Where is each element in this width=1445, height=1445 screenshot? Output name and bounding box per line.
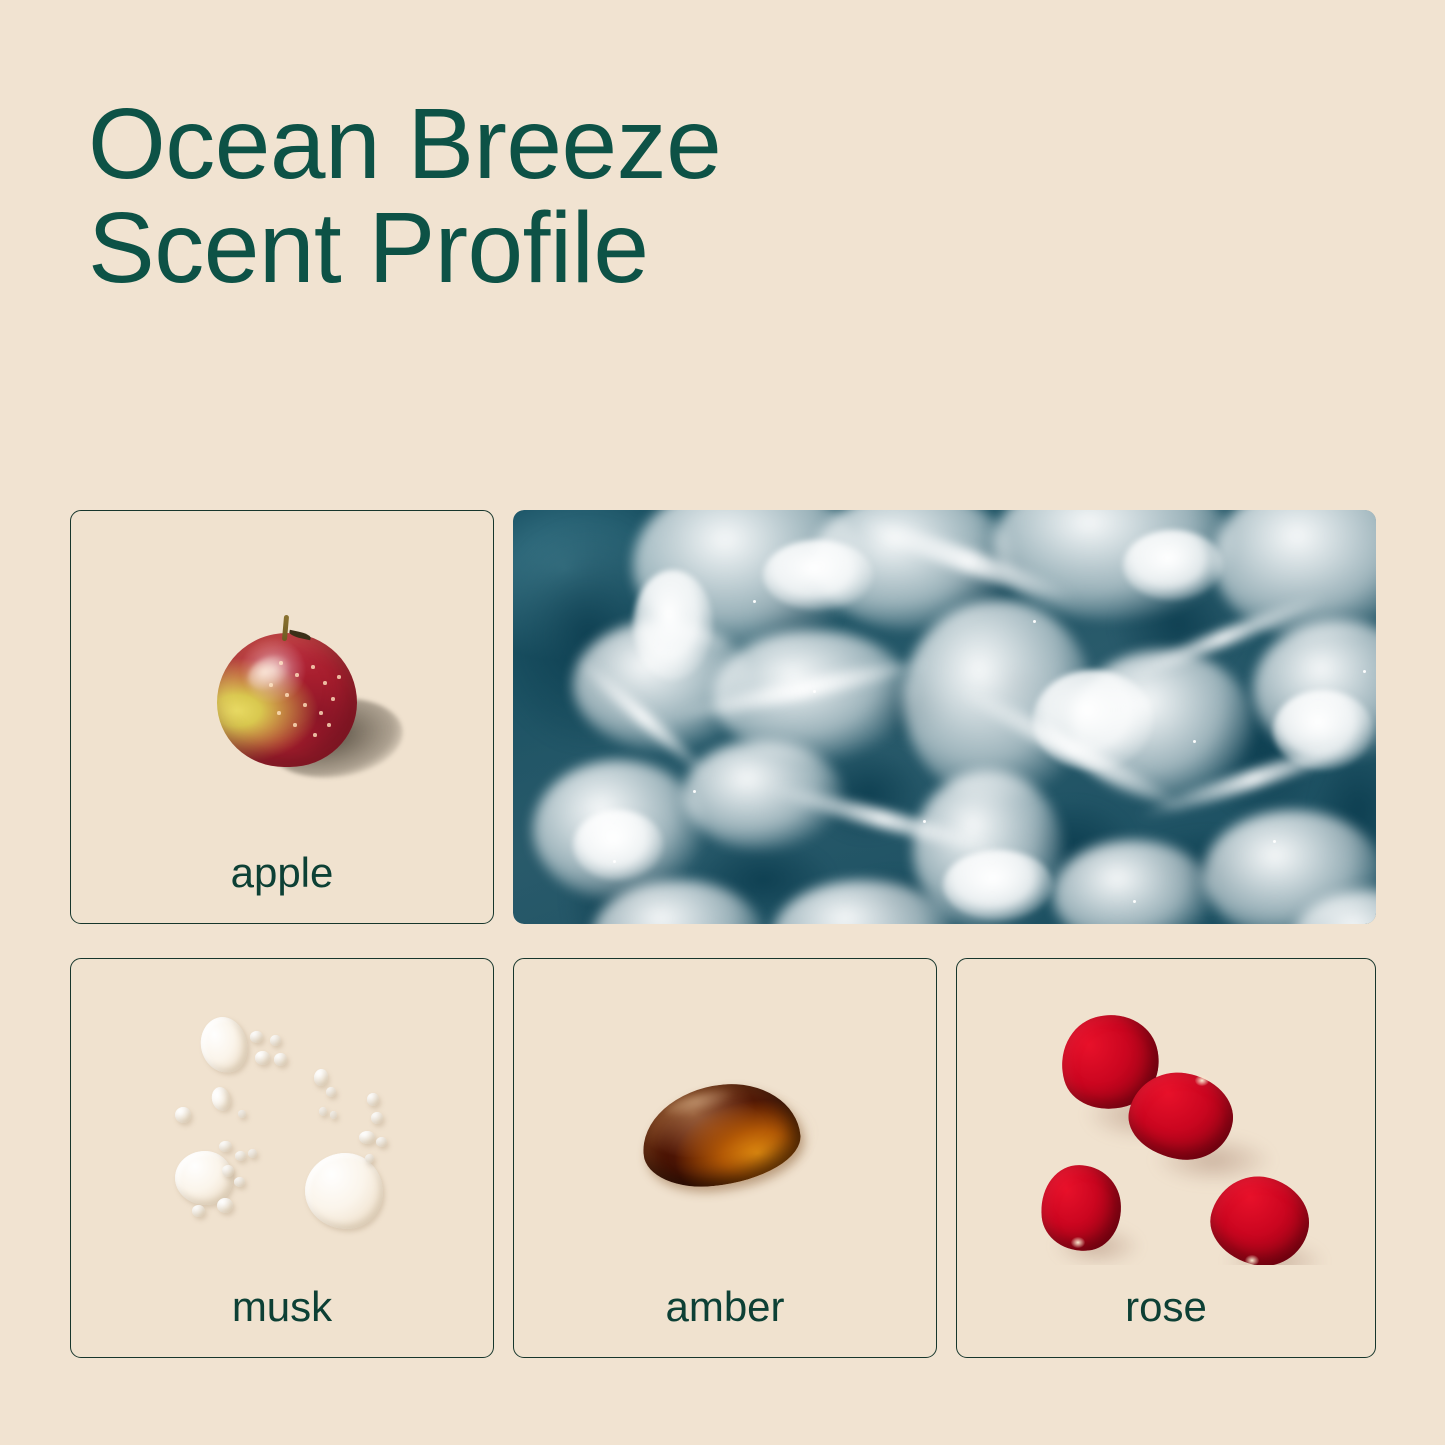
ocean-foam-image [513, 510, 1376, 924]
scent-card-label-apple: apple [71, 849, 493, 897]
page-title-line-2: Scent Profile [88, 196, 988, 300]
scent-card-label-rose: rose [957, 1283, 1375, 1331]
page-title: Ocean Breeze Scent Profile [88, 92, 988, 300]
scent-card-ocean[interactable] [513, 510, 1376, 924]
musk-image [71, 959, 493, 1265]
scent-card-label-musk: musk [71, 1283, 493, 1331]
page-title-line-1: Ocean Breeze [88, 92, 988, 196]
rose-image [957, 959, 1375, 1265]
apple-image [71, 511, 493, 831]
scent-card-musk[interactable]: musk [70, 958, 494, 1358]
scent-card-rose[interactable]: rose [956, 958, 1376, 1358]
scent-card-label-amber: amber [514, 1283, 936, 1331]
amber-image [514, 959, 936, 1265]
scent-card-apple[interactable]: apple [70, 510, 494, 924]
scent-card-amber[interactable]: amber [513, 958, 937, 1358]
